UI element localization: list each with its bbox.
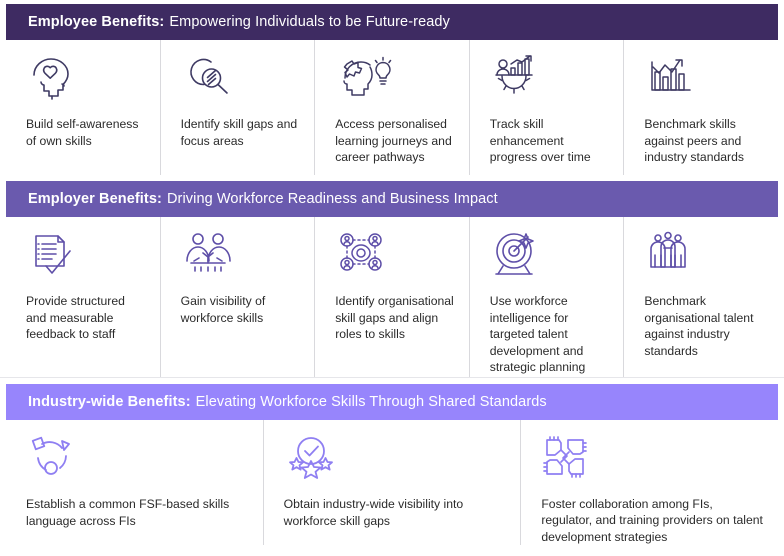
- card-row-employer: Provide structured and measurable feedba…: [0, 217, 784, 377]
- benefit-card[interactable]: Provide structured and measurable feedba…: [6, 217, 160, 377]
- benefit-card[interactable]: Gain visibility of workforce skills: [160, 217, 315, 377]
- card-row-industry: Establish a common FSF-based skills lang…: [0, 420, 784, 545]
- four-hands-collaboration-icon: [541, 434, 764, 486]
- benefit-card[interactable]: Use workforce intelligence for targeted …: [469, 217, 624, 377]
- section-employee: Employee Benefits: Empowering Individual…: [0, 4, 784, 40]
- benefit-card-text: Gain visibility of workforce skills: [181, 293, 301, 326]
- benefit-card-text: Identify organisational skill gaps and a…: [335, 293, 455, 343]
- benefit-card-text: Benchmark organisational talent against …: [644, 293, 764, 359]
- network-users-grid-icon: [335, 231, 455, 283]
- benefit-card[interactable]: Establish a common FSF-based skills lang…: [6, 420, 263, 545]
- benefit-card[interactable]: Build self-awareness of own skills: [6, 40, 160, 175]
- section-header-industry: Industry-wide Benefits: Elevating Workfo…: [6, 384, 778, 420]
- benefit-card[interactable]: Benchmark organisational talent against …: [623, 217, 778, 377]
- head-heart-icon: [26, 54, 146, 106]
- group-people-icon: [644, 231, 764, 283]
- section-header-industry-rest: Elevating Workforce Skills Through Share…: [196, 394, 547, 410]
- benefit-card[interactable]: Obtain industry-wide visibility into wor…: [263, 420, 521, 545]
- section-header-employer: Employer Benefits: Driving Workforce Rea…: [6, 181, 778, 217]
- document-checkmark-icon: [26, 231, 146, 283]
- benefit-card-text: Track skill enhancement progress over ti…: [490, 116, 610, 166]
- section-header-industry-bold: Industry-wide Benefits:: [28, 394, 191, 410]
- section-employer: Employer Benefits: Driving Workforce Rea…: [0, 181, 784, 217]
- benefit-card-text: Build self-awareness of own skills: [26, 116, 146, 149]
- head-puzzle-lightbulb-icon: [335, 54, 455, 106]
- benefit-card-text: Identify skill gaps and focus areas: [181, 116, 301, 149]
- gear-bar-chart-person-icon: [490, 54, 610, 106]
- benefit-card[interactable]: Identify skill gaps and focus areas: [160, 40, 315, 175]
- section-header-employer-bold: Employer Benefits:: [28, 191, 162, 207]
- section-header-employee-bold: Employee Benefits:: [28, 14, 164, 30]
- benefit-card[interactable]: Foster collaboration among FIs, regulato…: [520, 420, 778, 545]
- benefit-card[interactable]: Track skill enhancement progress over ti…: [469, 40, 624, 175]
- two-people-desk-icon: [181, 231, 301, 283]
- benefit-card[interactable]: Identify organisational skill gaps and a…: [314, 217, 469, 377]
- target-dart-icon: [490, 231, 610, 283]
- benefit-card-text: Provide structured and measurable feedba…: [26, 293, 146, 343]
- card-row-employee: Build self-awareness of own skills Ident…: [0, 40, 784, 175]
- section-header-employee-rest: Empowering Individuals to be Future-read…: [169, 14, 450, 30]
- benefits-infographic: Employee Benefits: Empowering Individual…: [0, 0, 784, 556]
- section-header-employee: Employee Benefits: Empowering Individual…: [6, 4, 778, 40]
- benefit-card-text: Establish a common FSF-based skills lang…: [26, 496, 249, 529]
- benefit-card-text: Foster collaboration among FIs, regulato…: [541, 496, 764, 546]
- benefit-card-text: Use workforce intelligence for targeted …: [490, 293, 610, 376]
- section-header-employer-rest: Driving Workforce Readiness and Business…: [167, 191, 498, 207]
- benefit-card-text: Obtain industry-wide visibility into wor…: [284, 496, 507, 529]
- benefit-card-text: Benchmark skills against peers and indus…: [644, 116, 764, 166]
- magnifier-gap-icon: [181, 54, 301, 106]
- section-industry: Industry-wide Benefits: Elevating Workfo…: [0, 384, 784, 420]
- benefit-card-text: Access personalised learning journeys an…: [335, 116, 455, 166]
- bar-chart-arrow-icon: [644, 54, 764, 106]
- benefit-card[interactable]: Benchmark skills against peers and indus…: [623, 40, 778, 175]
- benefit-card[interactable]: Access personalised learning journeys an…: [314, 40, 469, 175]
- check-badge-stars-icon: [284, 434, 507, 486]
- shapes-circle-icon: [26, 434, 249, 486]
